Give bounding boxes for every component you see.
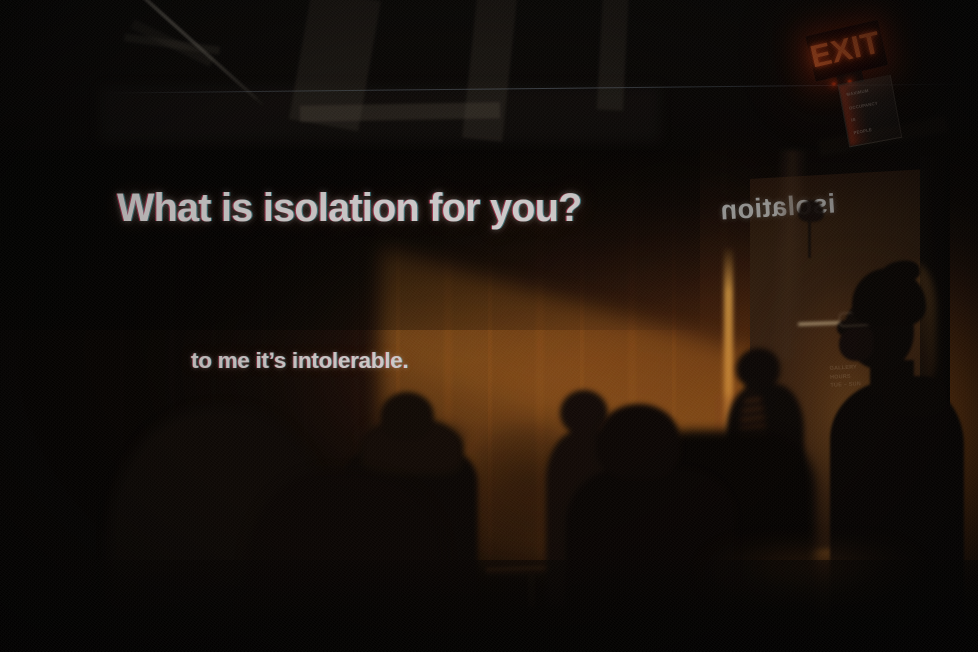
- face-mask: [839, 328, 873, 361]
- projected-response: to me it’s intolerable.: [191, 348, 408, 374]
- wall-lamp-arm: [808, 218, 811, 258]
- figure-head: [596, 404, 680, 478]
- glass-door-print: GALLERY HOURS TUE – SUN: [829, 363, 861, 390]
- indicator-led-icon: [832, 82, 837, 86]
- ceiling-pipe: [971, 0, 978, 71]
- ceiling-pipe: [962, 0, 978, 71]
- floor: [0, 560, 978, 652]
- projected-headline: What is isolation for you?: [117, 186, 582, 231]
- occupancy-placard: MAXIMUM OCCUPANCY IS PEOPLE: [838, 75, 903, 148]
- placard-line: IS: [851, 117, 856, 123]
- exit-sign-label: EXIT: [804, 19, 886, 80]
- photo-scene: What is isolation for you? to me it’s in…: [0, 0, 978, 652]
- figure-head: [380, 392, 434, 440]
- figure-collar: [884, 376, 946, 416]
